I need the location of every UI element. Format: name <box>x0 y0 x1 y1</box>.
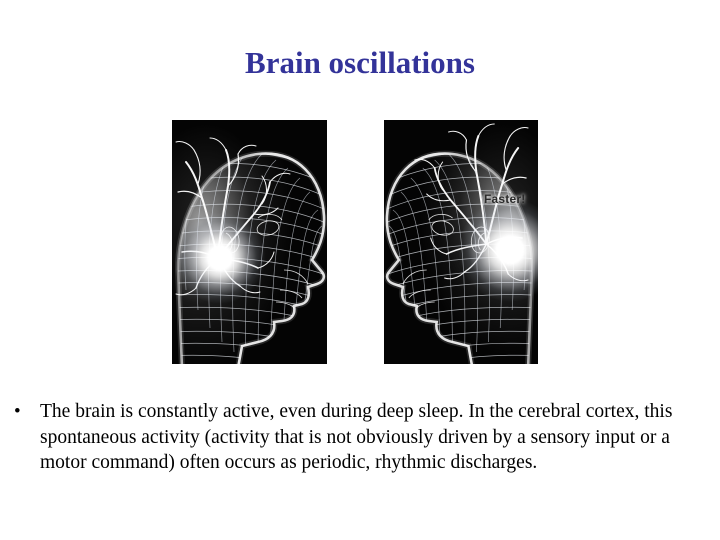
bullet-point-icon: • <box>12 399 40 424</box>
figure-wireframe-head-normal <box>172 120 327 364</box>
body-content: • The brain is constantly active, even d… <box>12 399 712 476</box>
bullet-paragraph: The brain is constantly active, even dur… <box>40 399 712 476</box>
page-title: Brain oscillations <box>0 46 720 80</box>
figure-wireframe-head-faster: Faster! <box>384 120 538 364</box>
figure-right-scene: Faster! <box>384 120 538 364</box>
faster-caption: Faster! <box>484 192 525 206</box>
brain-glow <box>174 212 266 304</box>
bullet-list-item: • The brain is constantly active, even d… <box>12 399 712 476</box>
figure-left-scene <box>172 120 327 364</box>
